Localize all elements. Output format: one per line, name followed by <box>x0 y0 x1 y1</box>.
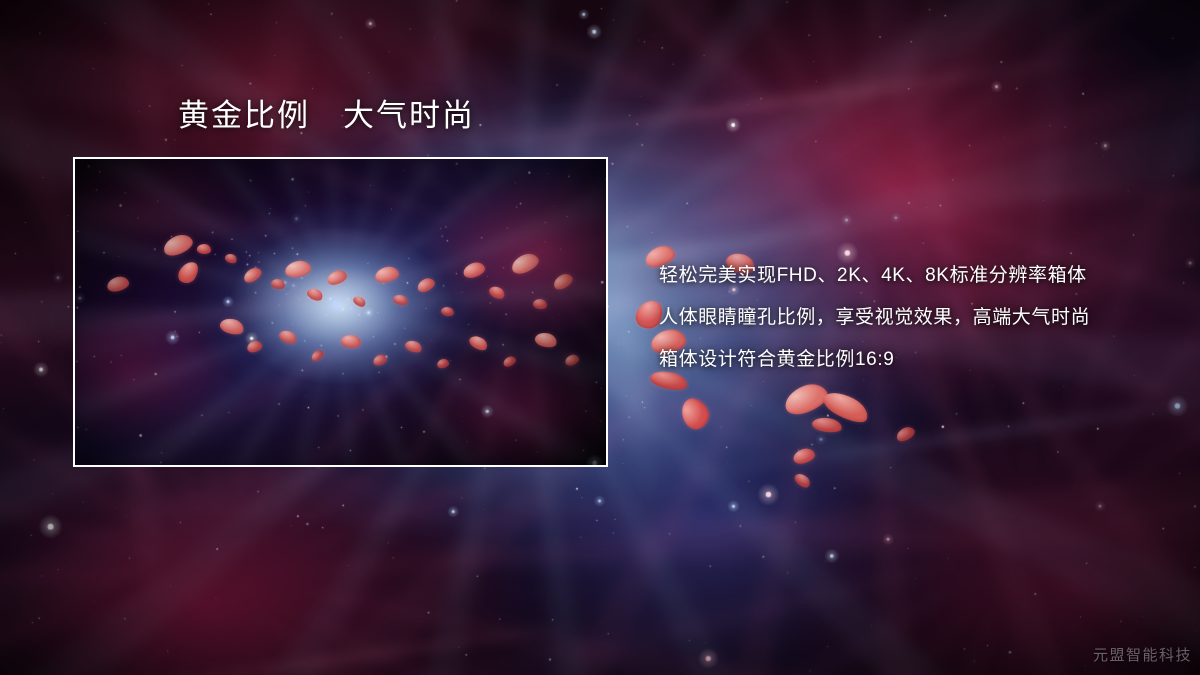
flower-petal <box>676 393 714 433</box>
flower-petal <box>792 471 812 490</box>
body-line-3: 箱体设计符合黄金比例16:9 <box>659 339 1179 381</box>
photo-vignette <box>75 159 606 465</box>
company-watermark: 元盟智能科技 <box>1093 644 1192 665</box>
flower-petal <box>894 424 916 443</box>
flower-petal <box>792 447 817 466</box>
slide-title: 黄金比例 大气时尚 <box>178 99 475 134</box>
flower-petal <box>820 386 873 428</box>
flower-petal <box>811 416 843 435</box>
body-line-2: 人体眼睛瞳孔比例，享受视觉效果，高端大气时尚 <box>659 297 1179 339</box>
presentation-slide: 黄金比例 大气时尚 轻松完美实现FHD、2K、4K、8K标准分辨率箱体 人体眼睛… <box>0 0 1200 675</box>
flower-petal <box>781 379 831 418</box>
galaxy-photo-frame <box>73 157 608 467</box>
body-line-1: 轻松完美实现FHD、2K、4K、8K标准分辨率箱体 <box>659 255 1179 297</box>
slide-body-text: 轻松完美实现FHD、2K、4K、8K标准分辨率箱体 人体眼睛瞳孔比例，享受视觉效… <box>659 255 1179 381</box>
